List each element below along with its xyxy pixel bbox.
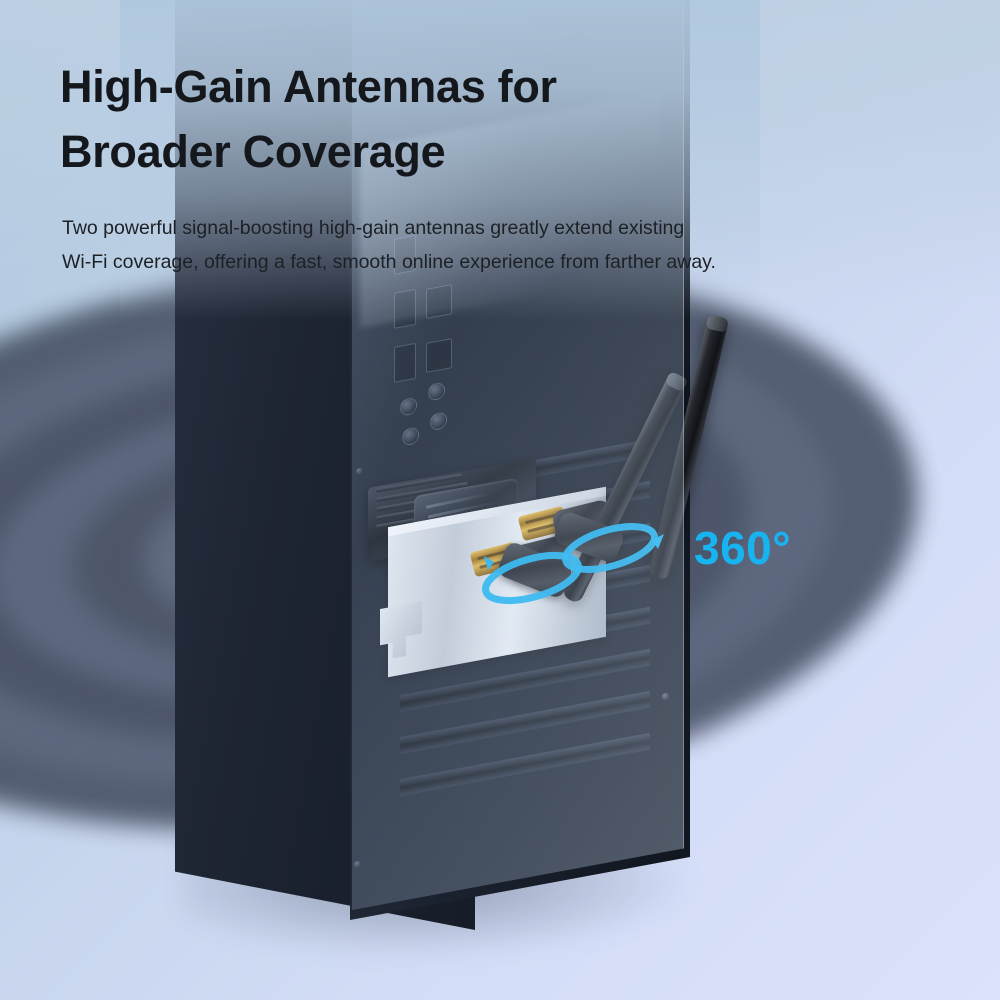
- audio-jack: [400, 397, 417, 417]
- audio-jack: [430, 411, 447, 431]
- product-feature-banner: High-Gain Antennas for Broader Coverage …: [0, 0, 1000, 1000]
- headline-line-1: High-Gain Antennas for: [60, 54, 740, 119]
- io-port: [394, 343, 416, 383]
- audio-jack: [428, 381, 445, 401]
- audio-jack: [402, 426, 419, 446]
- case-screw: [354, 861, 361, 868]
- headline-line-2: Broader Coverage: [60, 119, 740, 184]
- page-subcopy: Two powerful signal-boosting high-gain a…: [62, 212, 892, 279]
- io-port: [426, 284, 452, 319]
- io-port: [426, 338, 452, 373]
- rotation-ring-group: [470, 500, 690, 640]
- rotation-badge: 360°: [694, 521, 791, 575]
- rotation-ring-right: [561, 518, 664, 578]
- page-title: High-Gain Antennas for Broader Coverage: [60, 54, 740, 185]
- io-port: [394, 289, 416, 329]
- subcopy-line-2: Wi-Fi coverage, offering a fast, smooth …: [62, 246, 892, 280]
- subcopy-line-1: Two powerful signal-boosting high-gain a…: [62, 212, 892, 246]
- case-screw: [662, 693, 669, 700]
